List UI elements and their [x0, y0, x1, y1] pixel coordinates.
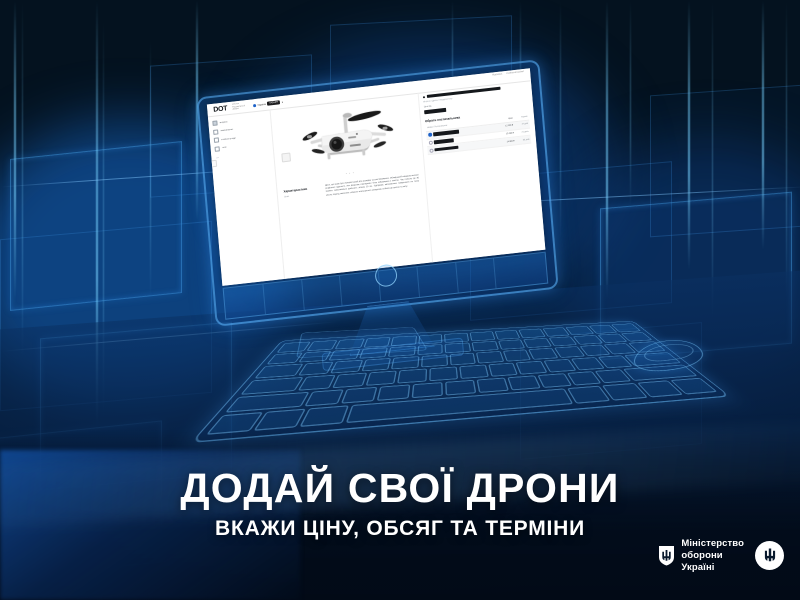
quadcopter-drone-image [291, 101, 403, 171]
trident-glyph-icon [762, 547, 778, 564]
doc-icon [214, 137, 220, 143]
key [471, 341, 498, 352]
headline-block: ДОДАЙ СВОЇ ДРОНИ ВКАЖИ ЦІНУ, ОБСЯГ ТА ТЕ… [0, 468, 800, 539]
sidebar-item-label: Замовлення [220, 129, 233, 132]
key [418, 334, 443, 344]
sidebar-more-icon[interactable]: ••• [215, 152, 269, 160]
key [330, 360, 363, 373]
promo-poster: DOT Defence Procurement of Ukraine Украї… [0, 0, 800, 600]
key [449, 353, 476, 365]
key [361, 358, 391, 371]
trident-shield-icon [658, 545, 675, 566]
light-streak [712, 0, 713, 320]
light-streak [762, 0, 764, 250]
key [391, 356, 419, 369]
dot-marketplace-app: DOT Defence Procurement of Ukraine Украї… [207, 68, 546, 286]
key [306, 340, 338, 351]
key [363, 337, 391, 347]
light-streak [150, 40, 151, 300]
key [335, 339, 365, 350]
key [398, 369, 428, 384]
light-streak [560, 0, 561, 240]
chat-icon [214, 146, 220, 152]
key [266, 352, 302, 364]
logo-lockup: Міністерство оборони Україні [658, 538, 744, 574]
redacted-price [424, 108, 446, 115]
app-body: Вітрина Замовлення Рамкові угоди Ча [208, 80, 546, 286]
key-cmd [300, 406, 348, 427]
key [503, 350, 532, 362]
key [298, 351, 332, 363]
radio-icon[interactable] [428, 140, 433, 145]
dot-logo[interactable]: DOT [213, 105, 227, 114]
ministry-line-2: оборони [681, 550, 744, 562]
bullet-icon [423, 96, 426, 99]
sidebar-item-label: Чати [222, 147, 227, 150]
header-link-support[interactable]: Підтримка [492, 73, 502, 76]
ministry-name: Міністерство оборони Україні [681, 538, 744, 574]
ministry-line-3: Україні [681, 562, 744, 574]
light-streak [688, 0, 690, 270]
light-streak [14, 0, 16, 300]
key [518, 329, 545, 338]
header-links: Підтримка Особистий кабінет [492, 71, 524, 77]
monitor-screen: DOT Defence Procurement of Ukraine Украї… [207, 68, 546, 286]
key [377, 384, 411, 401]
account-badge: КАБІНЕТ [267, 101, 280, 106]
key [332, 373, 367, 388]
key [470, 331, 495, 341]
key [298, 362, 333, 376]
supplier-price: 12 500 ₴ [497, 125, 513, 129]
page-title: ДОДАЙ СВОЇ ДРОНИ [0, 468, 800, 509]
key [388, 346, 416, 357]
product-image-area [275, 95, 420, 176]
column-header-term: Термін [516, 116, 528, 119]
key [537, 373, 572, 388]
ministry-of-defence-logo: Міністерство оборони Україні [658, 538, 784, 574]
monitor: DOT Defence Procurement of Ukraine Украї… [196, 59, 559, 327]
key [507, 375, 541, 391]
sidebar-item-label: Рамкові угоди [221, 137, 236, 141]
chevron-down-icon: ▾ [282, 100, 283, 103]
key [391, 336, 417, 346]
key [476, 377, 509, 393]
monitor-logo-icon [374, 263, 398, 287]
redacted-supplier [434, 138, 454, 144]
key [445, 342, 471, 353]
light-streak [630, 0, 631, 210]
key [445, 333, 470, 343]
key [488, 363, 519, 377]
light-streak [606, 0, 608, 300]
grid-icon [212, 120, 218, 126]
supplier-price: 13 200 ₴ [498, 132, 514, 136]
key [529, 348, 559, 360]
header-link-account[interactable]: Особистий кабінет [506, 71, 524, 75]
page-subtitle: ВКАЖИ ЦІНУ, ОБСЯГ ТА ТЕРМІНИ [0, 518, 800, 539]
locale-label: Україна [257, 102, 266, 106]
characteristics-heading-col: Характеристики Опис [283, 186, 318, 202]
key [498, 339, 526, 350]
key [411, 382, 442, 399]
key [417, 344, 443, 355]
product-main: • • • Характеристики Опис Дрон, що може … [271, 93, 433, 279]
locale-selector[interactable]: Україна КАБІНЕТ ▾ [253, 100, 283, 107]
redacted-supplier [433, 130, 459, 136]
key [516, 361, 548, 375]
light-streak [786, 0, 787, 300]
supplier-term: 14 днів [516, 123, 528, 126]
supplier-term: 21 день [517, 131, 529, 134]
light-streak [22, 0, 23, 360]
sidebar-item-label: Вітрина [220, 121, 228, 124]
key [341, 386, 378, 404]
key [476, 351, 504, 363]
dot-tagline: Defence Procurement of Ukraine [232, 102, 249, 111]
image-thumbnail-icon[interactable] [281, 152, 291, 162]
key [494, 330, 520, 339]
key [304, 389, 344, 407]
key [429, 367, 458, 381]
key [445, 380, 476, 396]
supplier-term: 30 днів [517, 138, 529, 141]
globe-icon [253, 104, 256, 107]
cart-icon [213, 129, 219, 135]
column-header-price: Ціна [497, 118, 513, 122]
key [277, 342, 311, 353]
key [328, 349, 360, 361]
key-ctrl [206, 412, 264, 435]
radio-icon[interactable] [429, 148, 434, 153]
trident-badge-icon [755, 541, 784, 570]
supplier-price: 14 900 ₴ [499, 140, 515, 144]
key [459, 365, 488, 379]
characteristics-description: Дрон, що може бути використаний для розв… [325, 174, 419, 197]
product-detail-panel: Вітрина / Дрони / Квадрокоптер Ціна від … [418, 80, 546, 262]
radio-selected-icon[interactable] [428, 133, 433, 138]
key [365, 371, 397, 386]
redacted-supplier [435, 146, 459, 152]
key [523, 338, 552, 348]
ministry-line-1: Міністерство [681, 538, 744, 550]
wireframe-block [650, 85, 800, 238]
key [358, 347, 388, 359]
characteristics-subtitle: Опис [284, 193, 318, 199]
key [421, 355, 448, 368]
key [298, 375, 336, 391]
